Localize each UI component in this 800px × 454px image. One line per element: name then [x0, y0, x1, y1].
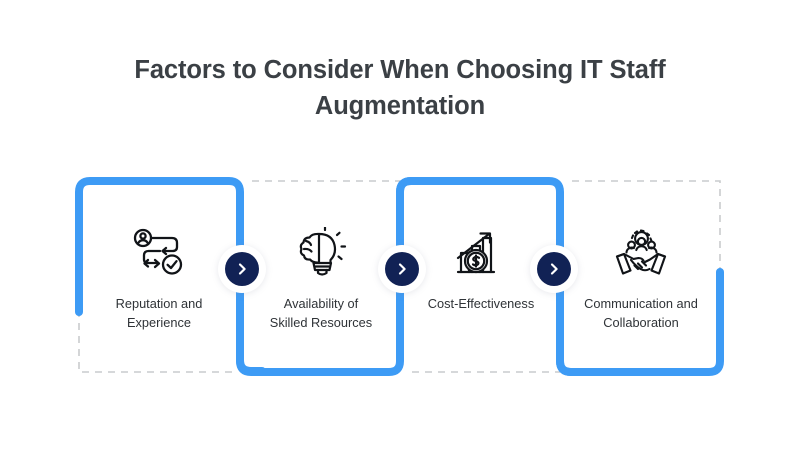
step-card-4-content: Communication and Collaboration — [560, 180, 722, 373]
brain-lightbulb-icon — [291, 225, 351, 281]
connector-1[interactable] — [225, 252, 259, 286]
process-diagram: Reputation and Experience — [0, 0, 800, 454]
step-card-4[interactable]: Communication and Collaboration — [560, 180, 722, 373]
step-card-3-label-line-1: Cost-Effectiveness — [406, 295, 556, 314]
step-card-2-label-line-2: Skilled Resources — [246, 314, 396, 333]
chevron-right-icon — [235, 262, 249, 276]
process-flow-person-check-icon — [129, 225, 189, 281]
connector-2[interactable] — [385, 252, 419, 286]
step-card-4-label-line-2: Collaboration — [566, 314, 716, 333]
step-card-3-content: Cost-Effectiveness — [400, 180, 562, 373]
step-card-1-label-line-1: Reputation and — [84, 295, 234, 314]
step-card-1[interactable]: Reputation and Experience — [78, 180, 240, 373]
step-card-1-label: Reputation and Experience — [84, 295, 234, 332]
step-card-2-label: Availability of Skilled Resources — [246, 295, 396, 332]
step-card-2-content: Availability of Skilled Resources — [240, 180, 402, 373]
step-card-4-label: Communication and Collaboration — [566, 295, 716, 332]
step-card-3[interactable]: Cost-Effectiveness — [400, 180, 562, 373]
step-card-2[interactable]: Availability of Skilled Resources — [240, 180, 402, 373]
step-card-3-label: Cost-Effectiveness — [406, 295, 556, 314]
step-card-1-label-line-2: Experience — [84, 314, 234, 333]
chevron-right-icon — [547, 262, 561, 276]
chevron-right-icon — [395, 262, 409, 276]
step-card-4-label-line-1: Communication and — [566, 295, 716, 314]
growth-chart-dollar-coin-icon — [451, 225, 511, 281]
handshake-teamwork-gear-icon — [611, 225, 671, 281]
connector-3[interactable] — [537, 252, 571, 286]
step-card-1-content: Reputation and Experience — [78, 180, 240, 373]
step-card-2-label-line-1: Availability of — [246, 295, 396, 314]
